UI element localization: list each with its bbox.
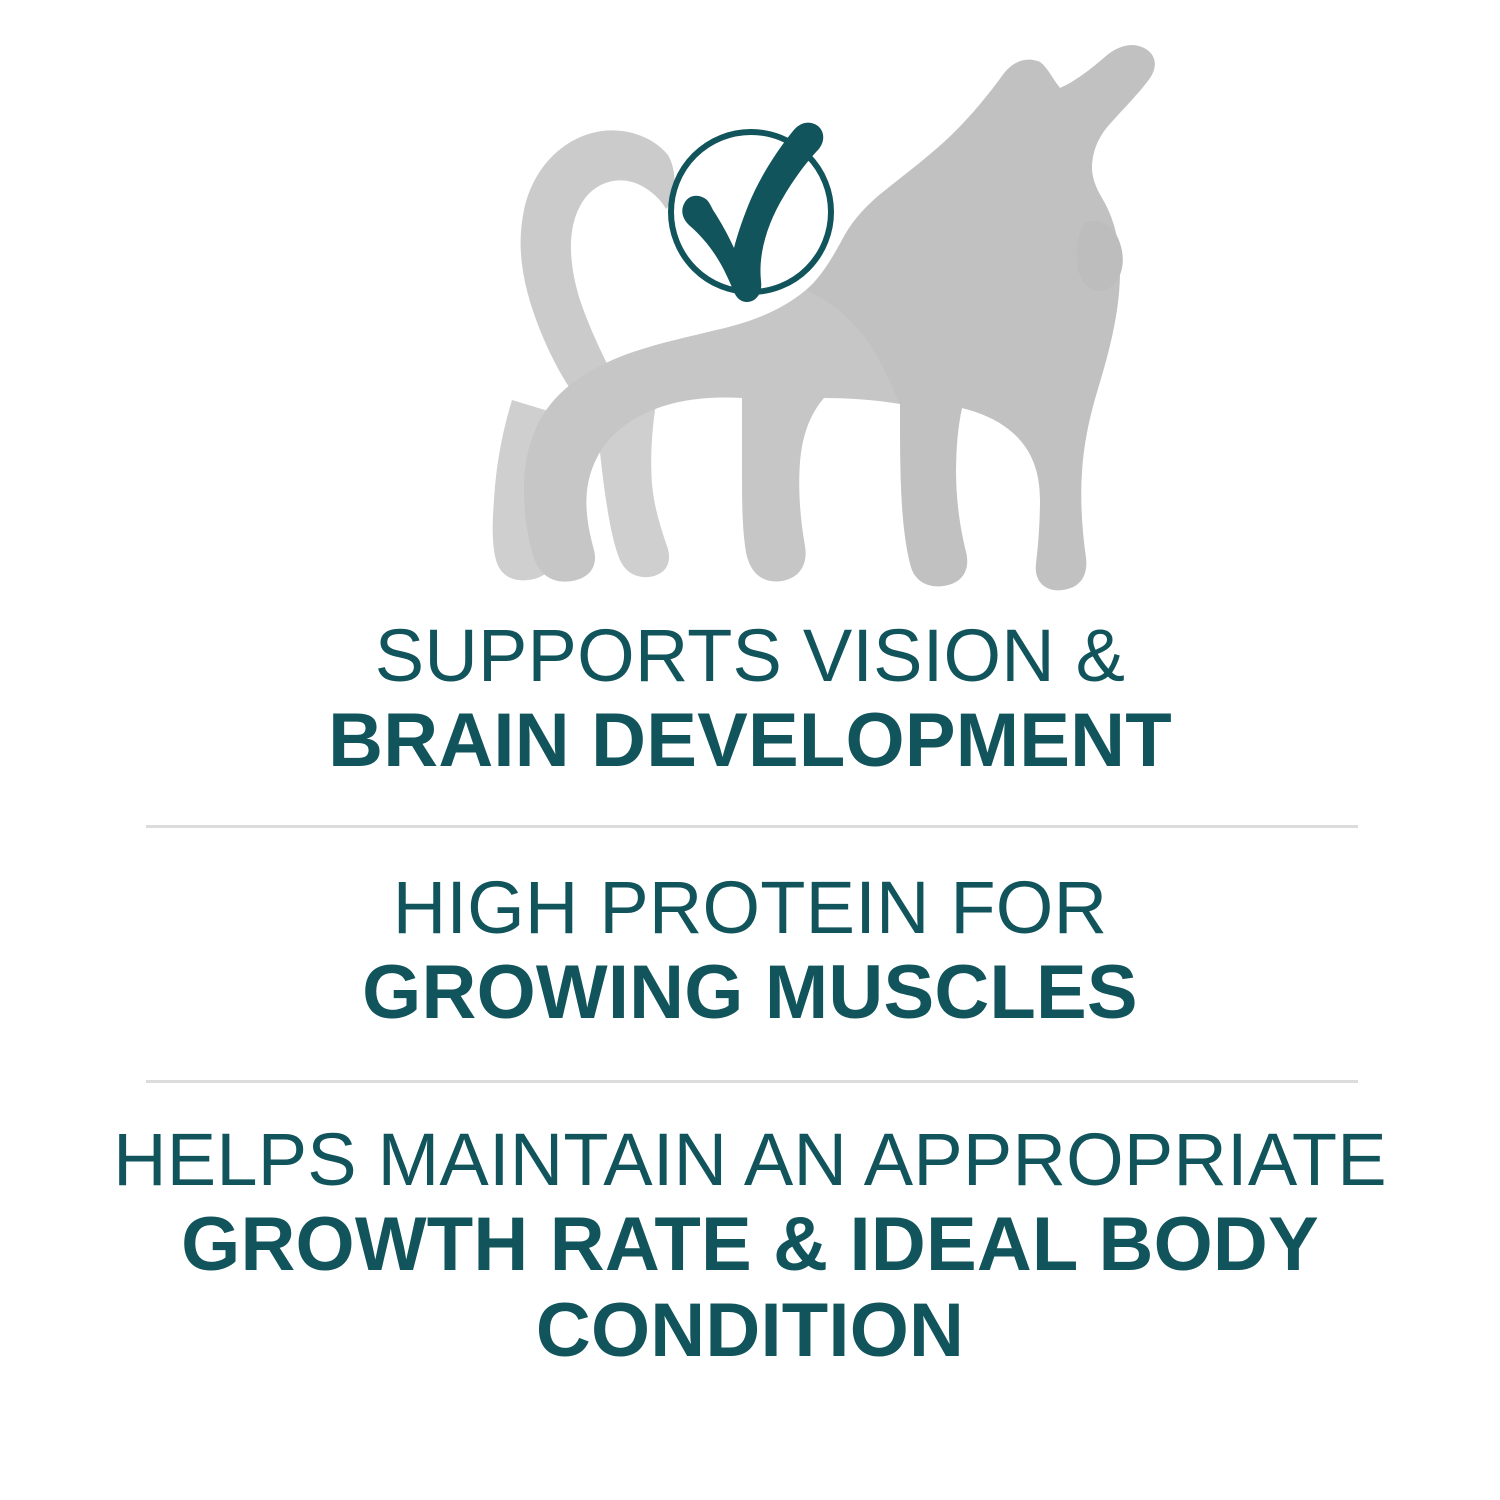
check-badge-icon xyxy=(671,123,831,302)
infographic-panel: SUPPORTS VISION & BRAIN DEVELOPMENT HIGH… xyxy=(0,0,1500,1500)
benefit-1-line-light: SUPPORTS VISION & xyxy=(0,614,1500,698)
benefit-high-protein: HIGH PROTEIN FOR GROWING MUSCLES xyxy=(0,866,1500,1036)
benefit-vision-brain: SUPPORTS VISION & BRAIN DEVELOPMENT xyxy=(0,614,1500,784)
dog-check-illustration xyxy=(0,0,1500,610)
benefit-divider-2 xyxy=(146,1080,1358,1083)
benefit-2-line-bold: GROWING MUSCLES xyxy=(0,950,1500,1036)
benefit-3-line-light: HELPS MAINTAIN AN APPROPRIATE xyxy=(0,1118,1500,1202)
benefit-divider-1 xyxy=(146,825,1358,828)
benefit-growth-rate: HELPS MAINTAIN AN APPROPRIATE GROWTH RAT… xyxy=(0,1118,1500,1374)
dog-shading-icon xyxy=(806,45,1155,590)
benefit-3-line-bold: GROWTH RATE & IDEAL BODY CONDITION xyxy=(0,1202,1500,1374)
dog-ear-icon xyxy=(1077,221,1123,291)
benefit-1-line-bold: BRAIN DEVELOPMENT xyxy=(0,698,1500,784)
benefit-2-line-light: HIGH PROTEIN FOR xyxy=(0,866,1500,950)
